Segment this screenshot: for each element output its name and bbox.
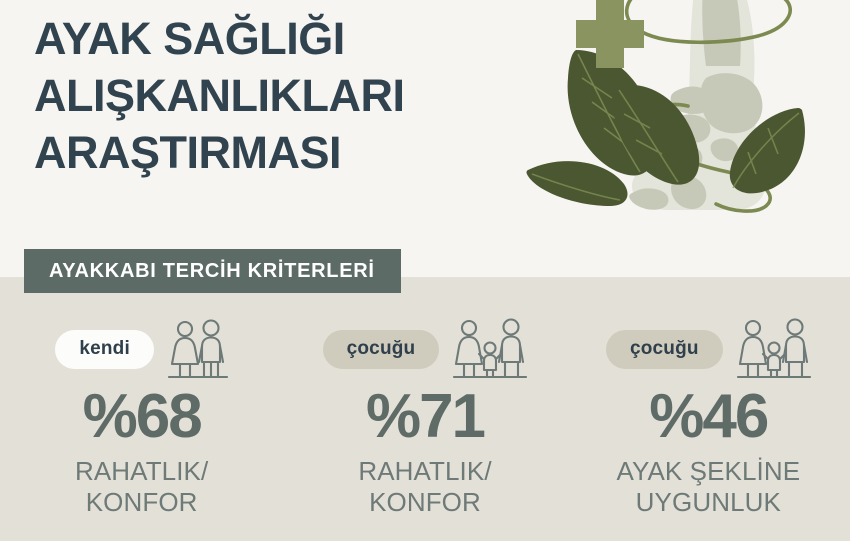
- stat-card-2-label: RAHATLIK/ KONFOR: [358, 456, 491, 518]
- stat-card-2-pill: çocuğu: [323, 330, 440, 369]
- couple-icon: [168, 318, 228, 380]
- section-header-label: AYAKKABI TERCİH KRİTERLERİ: [49, 260, 375, 283]
- stat-card-3-pill: çocuğu: [606, 330, 723, 369]
- family-icon: [453, 318, 527, 380]
- title-line-2: ALIŞKANLIKLARI: [34, 67, 534, 124]
- stat-card-2-value: %71: [366, 382, 484, 452]
- stat-card-3: çocuğu: [567, 318, 850, 518]
- title-line-3: ARAŞTIRMASI: [34, 124, 534, 181]
- stat-card-1-label-line-1: RAHATLIK/: [75, 456, 208, 487]
- stat-card-3-value: %46: [649, 382, 767, 452]
- page-title: AYAK SAĞLIĞI ALIŞKANLIKLARI ARAŞTIRMASI: [34, 10, 534, 181]
- stat-card-2-label-line-2: KONFOR: [358, 487, 491, 518]
- title-line-1: AYAK SAĞLIĞI: [34, 10, 534, 67]
- stat-card-1-pill: kendi: [55, 330, 154, 369]
- stat-card-1: kendi: [0, 318, 283, 518]
- stat-card-3-label-line-2: UYGUNLUK: [616, 487, 800, 518]
- stat-card-1-label: RAHATLIK/ KONFOR: [75, 456, 208, 518]
- stat-card-3-label: AYAK ŞEKLİNE UYGUNLUK: [616, 456, 800, 518]
- stat-card-2: çocuğu: [283, 318, 566, 518]
- stat-card-2-head: çocuğu: [283, 318, 566, 380]
- family-icon: [737, 318, 811, 380]
- stat-card-1-value: %68: [83, 382, 201, 452]
- stats-row: kendi: [0, 318, 850, 518]
- stat-card-1-head: kendi: [0, 318, 283, 380]
- stat-card-1-label-line-2: KONFOR: [75, 487, 208, 518]
- stat-card-3-label-line-1: AYAK ŞEKLİNE: [616, 456, 800, 487]
- infographic-root: AYAK SAĞLIĞI ALIŞKANLIKLARI ARAŞTIRMASI: [0, 0, 850, 541]
- section-header-bar: AYAKKABI TERCİH KRİTERLERİ: [24, 249, 401, 293]
- stat-card-2-label-line-1: RAHATLIK/: [358, 456, 491, 487]
- stat-card-3-head: çocuğu: [567, 318, 850, 380]
- header-illustration: [520, 0, 850, 239]
